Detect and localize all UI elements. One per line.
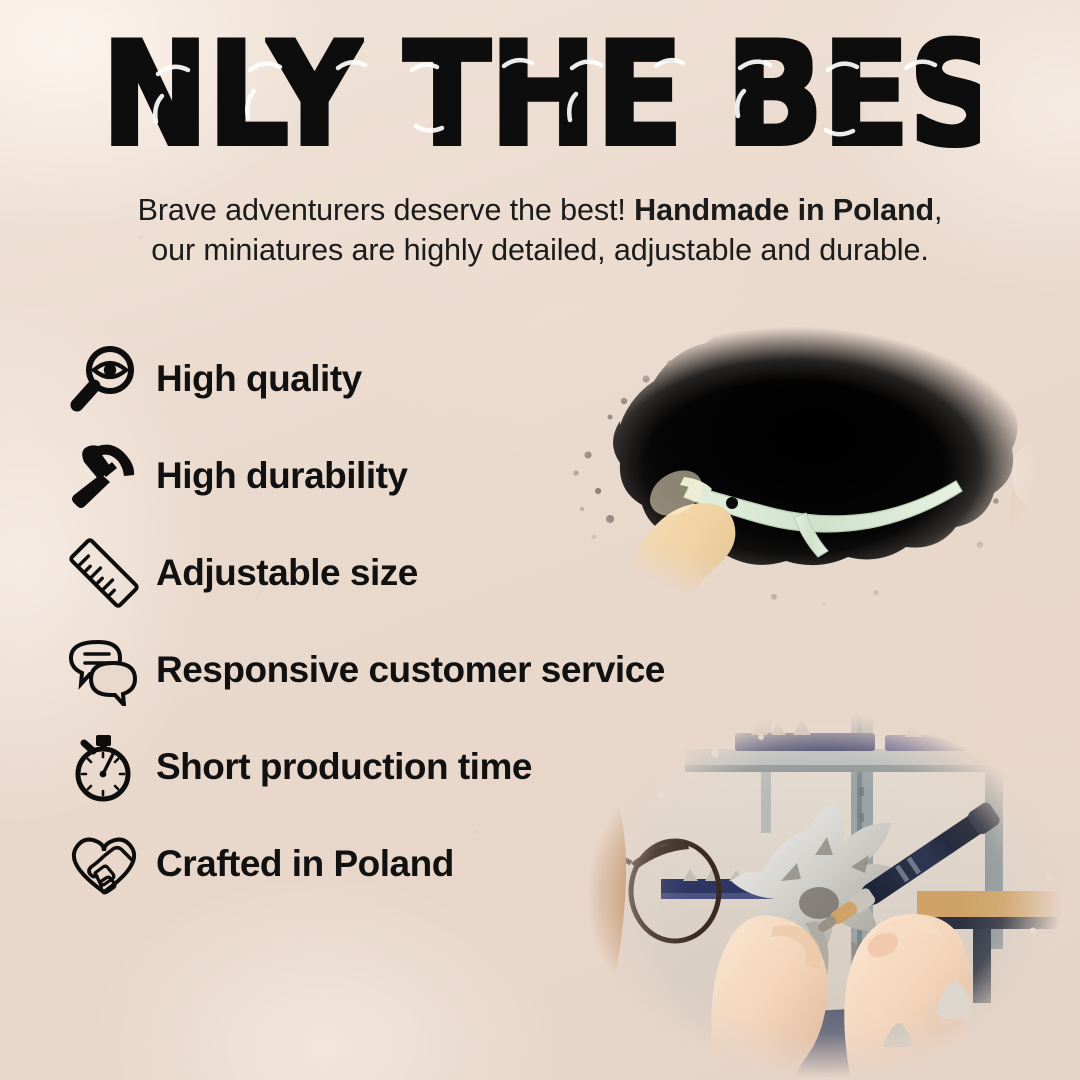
- handshake-heart-icon: [66, 826, 142, 902]
- svg-text:ONLY THE BEST: ONLY THE BEST: [100, 34, 980, 174]
- feature-item-high-quality: High quality: [66, 330, 796, 427]
- feature-label: Responsive customer service: [156, 649, 665, 691]
- feature-label: Crafted in Poland: [156, 843, 454, 885]
- magnifier-eye-icon: [66, 341, 142, 417]
- page-title: ONLY THE BEST: [0, 34, 1080, 174]
- subtitle: Brave adventurers deserve the best! Hand…: [0, 190, 1080, 271]
- feature-item-high-durability: High durability: [66, 427, 796, 524]
- hammer-icon: [66, 438, 142, 514]
- feature-item-crafted-in-poland: Crafted in Poland: [66, 815, 796, 912]
- subtitle-tail: ,: [934, 193, 942, 227]
- speech-bubbles-icon: [66, 632, 142, 708]
- feature-label: High quality: [156, 358, 362, 400]
- stopwatch-icon: [66, 729, 142, 805]
- feature-label: Adjustable size: [156, 552, 418, 594]
- feature-label: Short production time: [156, 746, 532, 788]
- feature-item-responsive-customer-service: Responsive customer service: [66, 621, 796, 718]
- feature-label: High durability: [156, 455, 408, 497]
- feature-item-adjustable-size: Adjustable size: [66, 524, 796, 621]
- subtitle-bold: Handmade in Poland: [634, 193, 934, 227]
- subtitle-lead: Brave adventurers deserve the best!: [138, 193, 626, 227]
- subtitle-line-2: our miniatures are highly detailed, adju…: [0, 230, 1080, 270]
- feature-list: High quality High durability: [66, 330, 796, 912]
- feature-item-short-production-time: Short production time: [66, 718, 796, 815]
- ruler-icon: [66, 535, 142, 611]
- subtitle-line-1: Brave adventurers deserve the best! Hand…: [0, 190, 1080, 230]
